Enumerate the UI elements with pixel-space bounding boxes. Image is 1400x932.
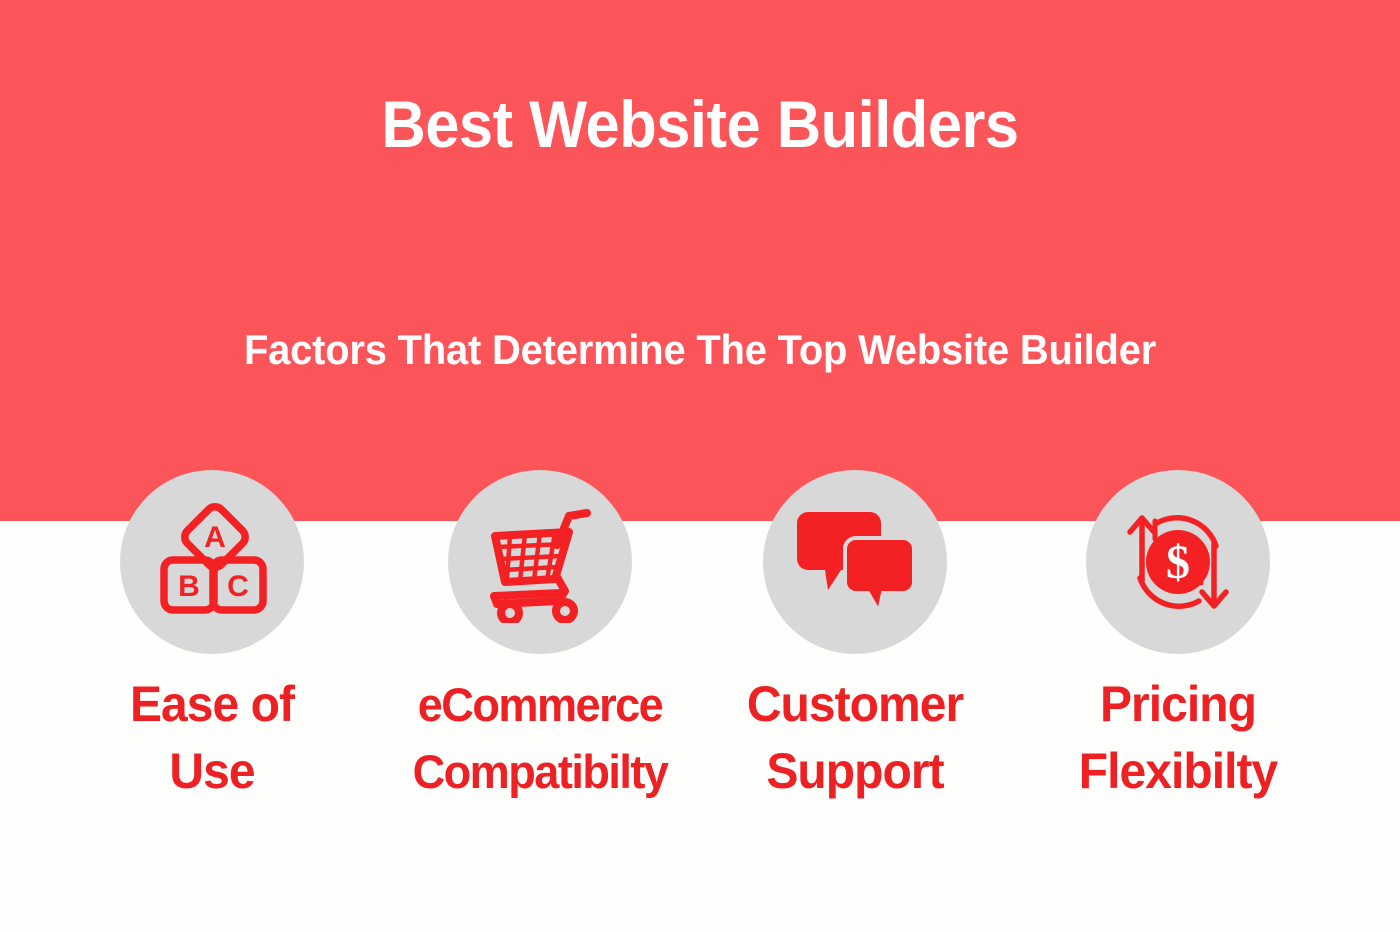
icon-circle-ease-of-use: A B C [120,470,304,654]
factor-label-line-2: Flexibilty [1020,738,1337,805]
infographic-canvas: Best Website Builders Factors That Deter… [0,0,1400,932]
factor-label-ease-of-use: Ease of Use [54,671,371,805]
factor-label-pricing-flexibility: Pricing Flexibilty [1020,671,1337,805]
factor-item-ecommerce: eCommerce Compatibilty [375,470,705,805]
icon-circle-customer-support [763,470,947,654]
red-header-band [0,0,1400,521]
factor-item-ease-of-use: A B C Ease of Use [47,470,377,805]
icon-circle-ecommerce [448,470,632,654]
factor-label-line-1: Ease of [54,671,371,738]
dollar-refresh-icon: $ [1115,499,1241,625]
factor-label-line-2: Compatibilty [382,738,699,805]
icon-circle-pricing-flexibility: $ [1086,470,1270,654]
factor-item-pricing-flexibility: $ Pricing Flexibilty [1013,470,1343,805]
factors-row: A B C Ease of Use [0,470,1400,870]
chat-bubbles-icon [793,510,917,614]
factor-label-line-2: Use [54,738,371,805]
factor-label-line-1: Pricing [1020,671,1337,738]
shopping-cart-icon [477,501,603,623]
page-subtitle: Factors That Determine The Top Website B… [35,323,1365,377]
abc-block-letter-b: B [178,570,200,603]
abc-block-letter-c: C [227,570,249,603]
page-title: Best Website Builders [49,84,1351,164]
factor-item-customer-support: Customer Support [690,470,1020,805]
factor-label-line-1: eCommerce [382,671,699,738]
factor-label-line-2: Support [697,738,1014,805]
abc-blocks-icon: A B C [151,501,273,623]
factor-label-ecommerce: eCommerce Compatibilty [382,671,699,805]
factor-label-customer-support: Customer Support [697,671,1014,805]
dollar-symbol: $ [1166,536,1190,589]
abc-block-letter-a: A [204,521,226,554]
factor-label-line-1: Customer [697,671,1014,738]
